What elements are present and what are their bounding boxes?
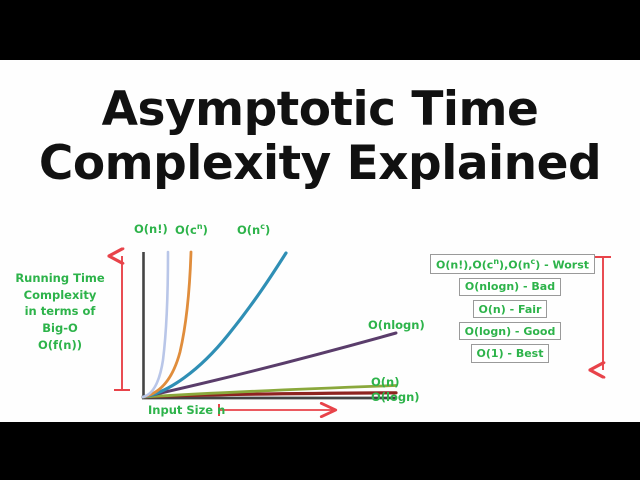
video-frame: Asymptotic Time Complexity Explained Run… xyxy=(0,0,640,480)
slide-content: Asymptotic Time Complexity Explained Run… xyxy=(0,60,640,422)
curve-label-n-pow-c-tail: ) xyxy=(265,223,270,237)
legend-item-worst-pre: O(n!),O(c xyxy=(436,258,493,271)
curve-label-n-pow-c-base: O(n xyxy=(237,223,260,237)
legend-item-worst-post: ) - Worst xyxy=(535,258,589,271)
letterbox-bottom-bar xyxy=(0,422,640,480)
curve-n-factorial xyxy=(143,252,168,397)
x-axis-label: Input Size n xyxy=(148,403,225,417)
curve-label-c-pow-n-tail: ) xyxy=(203,223,208,237)
curve-label-c-pow-n: O(cn) xyxy=(175,222,208,237)
legend-item-bad: O(nlogn) - Bad xyxy=(459,278,561,296)
curve-label-n: O(n) xyxy=(371,375,399,389)
complexity-ranking-legend: O(n!),O(cn),O(nc) - Worst O(nlogn) - Bad… xyxy=(430,254,590,367)
legend-item-good: O(logn) - Good xyxy=(459,322,562,340)
legend-item-best: O(1) - Best xyxy=(471,344,550,362)
legend-item-fair: O(n) - Fair xyxy=(473,300,548,318)
curve-label-logn: O(logn) xyxy=(371,390,420,404)
curve-label-n-factorial: O(n!) xyxy=(134,222,168,236)
complexity-plot xyxy=(0,60,640,422)
curve-label-n-pow-c: O(nc) xyxy=(237,222,270,237)
curve-label-c-pow-n-base: O(c xyxy=(175,223,197,237)
legend-item-worst: O(n!),O(cn),O(nc) - Worst xyxy=(430,254,595,274)
curve-n-pow-c xyxy=(143,253,286,397)
legend-item-worst-mid: ),O(n xyxy=(499,258,530,271)
curve-label-nlogn: O(nlogn) xyxy=(368,318,425,332)
letterbox-top-bar xyxy=(0,0,640,60)
